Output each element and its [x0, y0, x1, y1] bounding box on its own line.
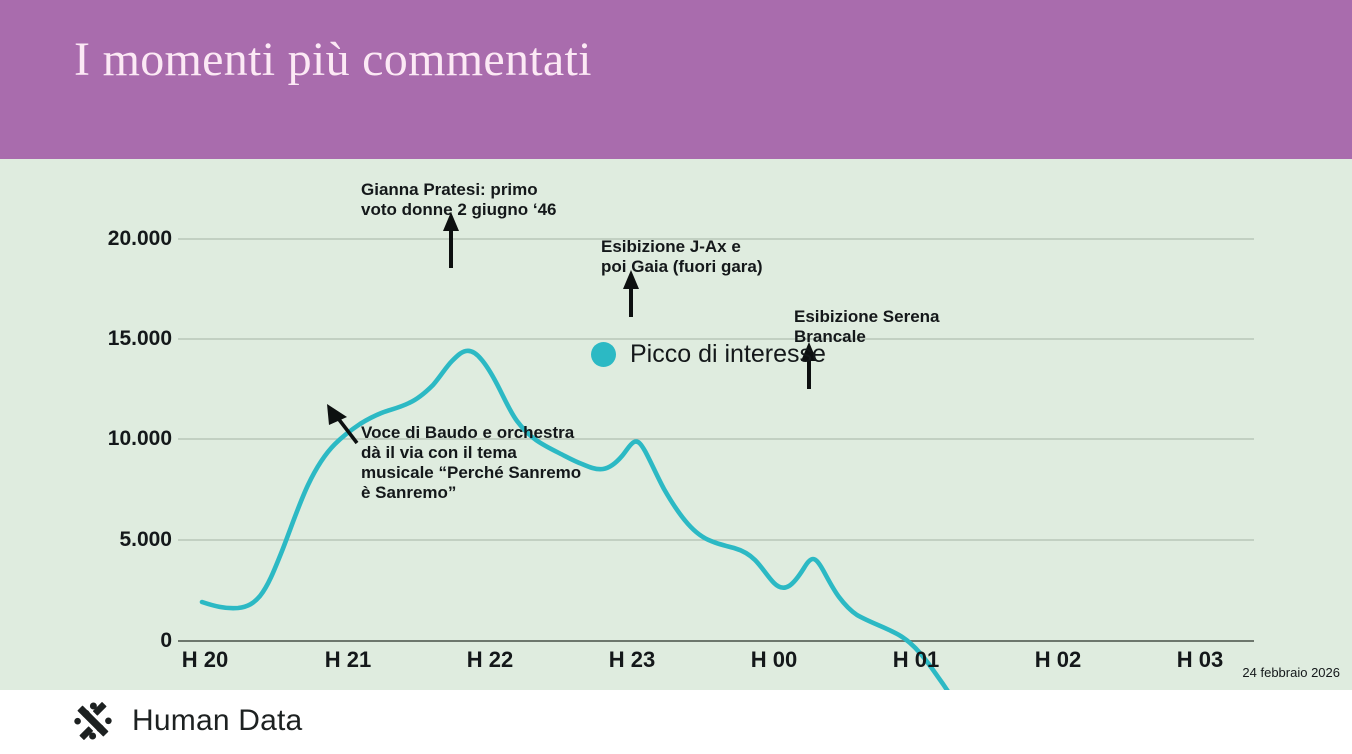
annotation-label-voce-di-baudo: Voce di Baudo e orchestra dà il via con … — [361, 423, 581, 503]
human-data-asterisk-icon — [70, 698, 116, 744]
footer-bar: Human Data — [0, 690, 1352, 754]
brand-name: Human Data — [132, 704, 302, 738]
infographic-page: I momenti più commentati — [0, 0, 1352, 754]
x-tick-h01: H 01 — [893, 647, 939, 673]
annotation-label-j-ax-gaia: Esibizione J-Ax e poi Gaia (fuori gara) — [601, 237, 763, 277]
x-tick-h22: H 22 — [467, 647, 513, 673]
chart-panel: 20.000 15.000 10.000 5.000 0 H 20 H 21 H… — [0, 159, 1352, 690]
x-tick-h00: H 00 — [751, 647, 797, 673]
y-tick-10000: 10.000 — [108, 427, 172, 451]
page-title: I momenti più commentati — [74, 32, 592, 87]
date-stamp: 24 febbraio 2026 — [1242, 665, 1340, 680]
brand-logo: Human Data — [70, 698, 302, 744]
y-tick-0: 0 — [160, 629, 172, 653]
x-tick-h02: H 02 — [1035, 647, 1081, 673]
circle-icon — [591, 342, 616, 367]
annotation-arrow-gianna-pratesi — [443, 212, 459, 268]
gridlines — [178, 239, 1254, 540]
x-tick-h20: H 20 — [182, 647, 228, 673]
x-tick-h03: H 03 — [1177, 647, 1223, 673]
header-banner: I momenti più commentati — [0, 0, 1352, 159]
x-tick-h21: H 21 — [325, 647, 371, 673]
annotation-label-serena-brancale: Esibizione Serena Brancale — [794, 307, 940, 347]
annotation-label-gianna-pratesi: Gianna Pratesi: primo voto donne 2 giugn… — [361, 180, 557, 220]
series-line-picco-di-interesse — [202, 351, 1254, 690]
x-tick-h23: H 23 — [609, 647, 655, 673]
y-tick-20000: 20.000 — [108, 227, 172, 251]
chart-legend: Picco di interesse — [591, 340, 826, 369]
y-tick-5000: 5.000 — [119, 528, 172, 552]
y-axis-ticks: 20.000 15.000 10.000 5.000 0 — [40, 159, 172, 690]
y-tick-15000: 15.000 — [108, 327, 172, 351]
